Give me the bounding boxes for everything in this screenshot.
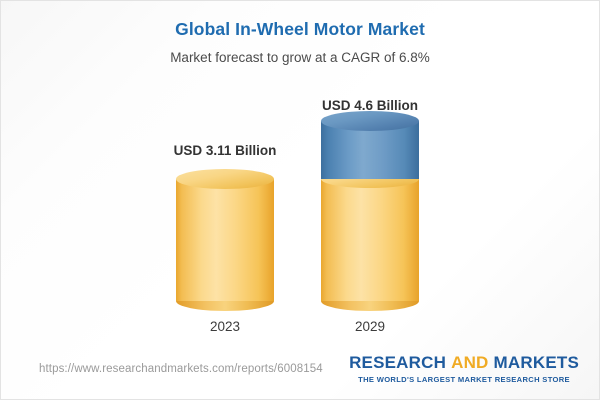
bar-segment-base-2029 (321, 179, 419, 301)
chart-footer: https://www.researchandmarkets.com/repor… (1, 347, 600, 399)
bar-segment-growth-2029 (321, 121, 419, 179)
logo-wordmark: RESEARCHANDMARKETS (349, 354, 579, 373)
bar-group-2023: USD 3.11 Billion 2023 (176, 1, 274, 346)
infographic-card: Global In-Wheel Motor Market Market fore… (0, 0, 600, 400)
logo-word-research: RESEARCH (349, 353, 446, 372)
logo-word-markets: MARKETS (494, 353, 579, 372)
cylinder-2023 (176, 179, 274, 301)
bar-value-label-2023: USD 3.11 Billion (174, 143, 277, 158)
logo-word-and: AND (451, 353, 488, 372)
bar-segment-base-2023 (176, 179, 274, 301)
cylinder-2029 (321, 121, 419, 301)
bar-group-2029: USD 4.6 Billion 2029 (321, 1, 419, 346)
logo-tagline: THE WORLD'S LARGEST MARKET RESEARCH STOR… (349, 375, 579, 384)
chart-plot-area: USD 3.11 Billion 2023 USD 4.6 Billion (1, 1, 600, 346)
cylinder-cap-yellow (176, 169, 274, 189)
research-and-markets-logo[interactable]: RESEARCHANDMARKETS THE WORLD'S LARGEST M… (349, 354, 579, 384)
cylinder-cap-blue (321, 111, 419, 131)
bar-category-label-2023: 2023 (210, 319, 240, 334)
source-url[interactable]: https://www.researchandmarkets.com/repor… (39, 363, 323, 375)
bar-category-label-2029: 2029 (355, 319, 385, 334)
